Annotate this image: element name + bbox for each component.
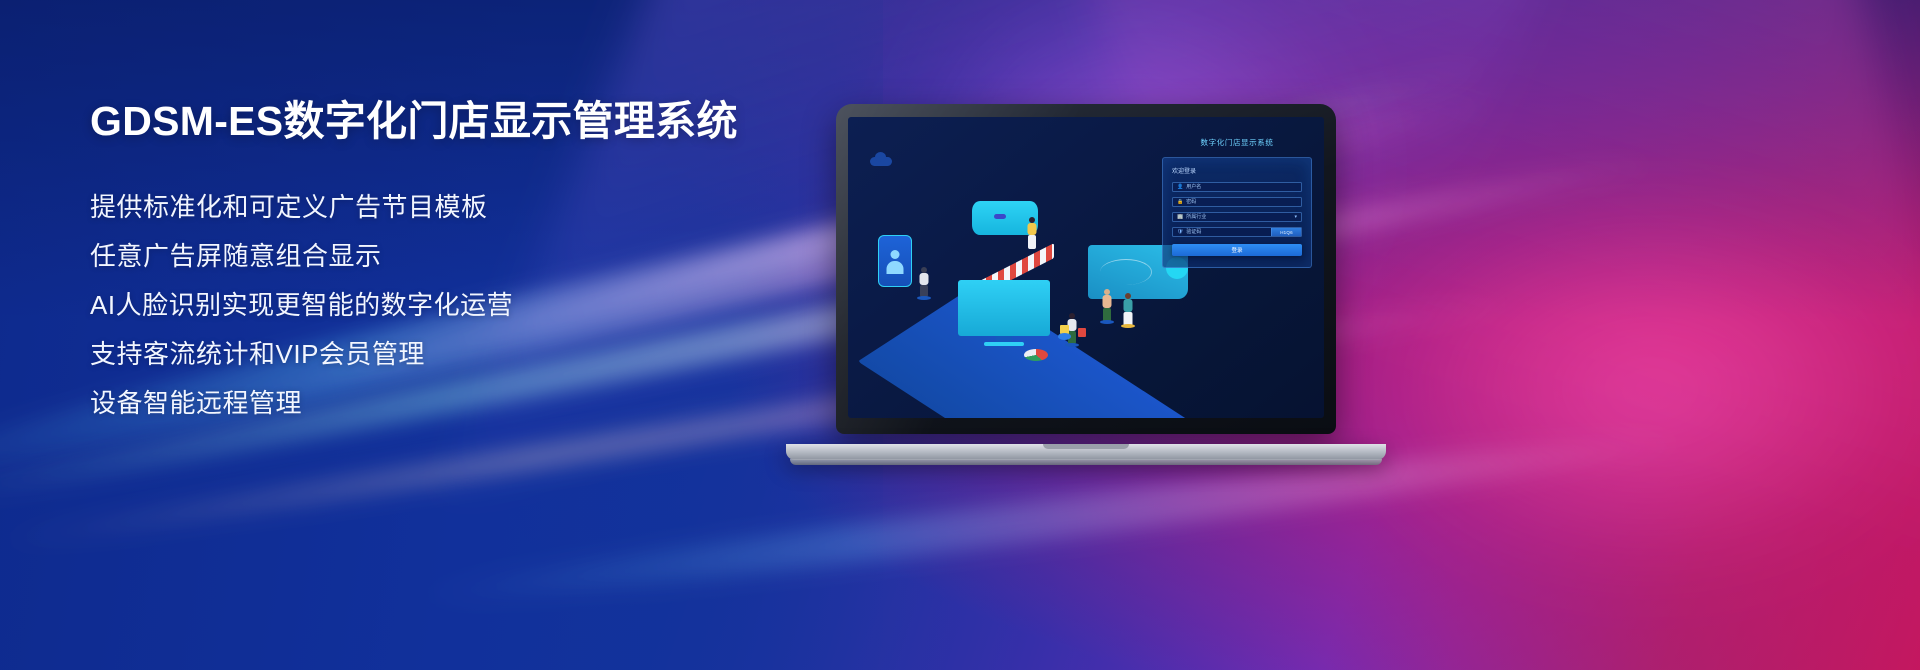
login-panel: 数字化门店显示系统 欢迎登录 👤 用户名 🔒 密码 🏢 [1162,137,1312,268]
laptop-foot [790,459,1382,465]
person-viewer-1 [1101,289,1113,325]
hero-banner: GDSM-ES数字化门店显示管理系统 提供标准化和可定义广告节目模板 任意广告屏… [0,0,1920,670]
login-form: 欢迎登录 👤 用户名 🔒 密码 🏢 所属行业 ▾ [1162,157,1312,268]
username-field[interactable]: 👤 用户名 [1172,182,1302,192]
display-graphic-wave [1100,259,1152,285]
portrait-display-panel [878,235,912,287]
display-base [984,342,1024,346]
building-icon: 🏢 [1177,215,1183,220]
avatar [891,250,900,259]
captcha-code-button[interactable]: H1Q6 [1271,228,1301,236]
feature-item: 任意广告屏随意组合显示 [90,232,870,281]
person-shopper [1066,313,1078,347]
mouse-icon [1058,333,1071,340]
shield-icon: 🛡 [1177,230,1183,235]
person-presenter [1026,217,1037,251]
password-placeholder: 密码 [1186,200,1196,205]
user-icon: 👤 [1177,185,1183,190]
shopping-bag-icon [1078,328,1086,337]
laptop-base [786,444,1386,460]
captcha-field[interactable]: 🛡 验证码 H1Q6 [1172,227,1302,237]
laptop-screen: 数字化门店显示系统 欢迎登录 👤 用户名 🔒 密码 🏢 [848,117,1324,418]
chevron-down-icon: ▾ [1294,214,1297,220]
feature-list: 提供标准化和可定义广告节目模板 任意广告屏随意组合显示 AI人脸识别实现更智能的… [90,183,870,428]
cloud-icon [870,157,892,166]
login-submit-button[interactable]: 登录 [1172,244,1302,256]
person-figure [918,267,929,297]
feature-item: 提供标准化和可定义广告节目模板 [90,183,870,232]
laptop-lid: 数字化门店显示系统 欢迎登录 👤 用户名 🔒 密码 🏢 [836,104,1336,434]
badge [994,214,1006,219]
avatar-body [887,261,904,274]
welcome-label: 欢迎登录 [1172,166,1302,175]
password-field[interactable]: 🔒 密码 [1172,197,1302,207]
username-placeholder: 用户名 [1186,185,1201,190]
industry-select[interactable]: 🏢 所属行业 ▾ [1172,212,1302,222]
captcha-placeholder: 验证码 [1186,230,1201,235]
large-display-screen [958,280,1050,336]
lock-icon: 🔒 [1177,200,1183,205]
laptop-mockup: 数字化门店显示系统 欢迎登录 👤 用户名 🔒 密码 🏢 [786,104,1386,460]
pie-chart-icon [1024,349,1048,361]
hero-copy: GDSM-ES数字化门店显示管理系统 提供标准化和可定义广告节目模板 任意广告屏… [90,96,870,428]
person-viewer-2 [1122,293,1134,329]
page-title: GDSM-ES数字化门店显示管理系统 [90,96,870,147]
system-title: 数字化门店显示系统 [1162,137,1312,148]
industry-placeholder: 所属行业 [1186,215,1206,220]
feature-item: 设备智能远程管理 [90,379,870,428]
feature-item: 支持客流统计和VIP会员管理 [90,330,870,379]
feature-item: AI人脸识别实现更智能的数字化运营 [90,281,870,330]
